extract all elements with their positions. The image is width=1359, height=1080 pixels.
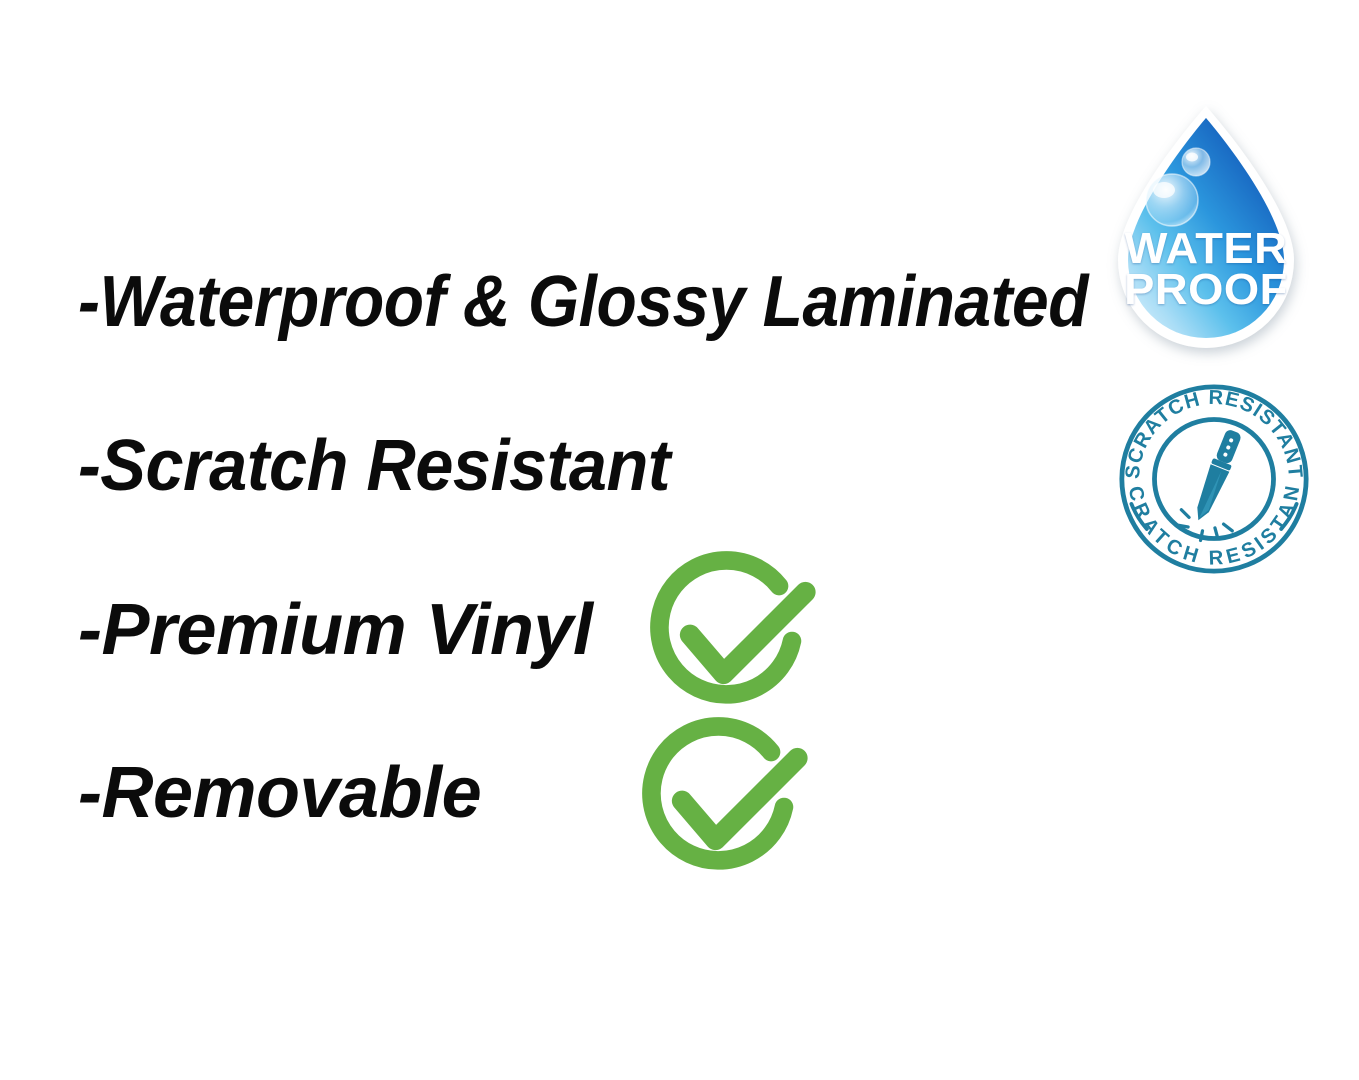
- water-drop-icon: [1098, 100, 1314, 368]
- list-item: -Waterproof & Glossy Laminated: [78, 262, 1182, 342]
- feature-label-scratch-resistant: -Scratch Resistant: [78, 426, 670, 506]
- scratch-resistant-badge: SCRATCH RESISTANT SCRATCH RESISTANT: [1118, 383, 1310, 575]
- check-circle-icon: [638, 540, 824, 726]
- list-item: -Premium Vinyl: [78, 590, 592, 670]
- list-item: -Scratch Resistant: [78, 426, 701, 506]
- feature-label-premium-vinyl: -Premium Vinyl: [78, 590, 592, 670]
- feature-label-removable: -Removable: [78, 753, 481, 833]
- waterproof-badge: WATER PROOF: [1098, 100, 1314, 368]
- feature-label-waterproof: -Waterproof & Glossy Laminated: [78, 262, 1088, 342]
- knife-icon: [1189, 428, 1244, 525]
- list-item: -Removable: [78, 753, 481, 833]
- check-circle-icon: [630, 706, 816, 892]
- feature-list: -Waterproof & Glossy Laminated -Scratch …: [0, 0, 1100, 1080]
